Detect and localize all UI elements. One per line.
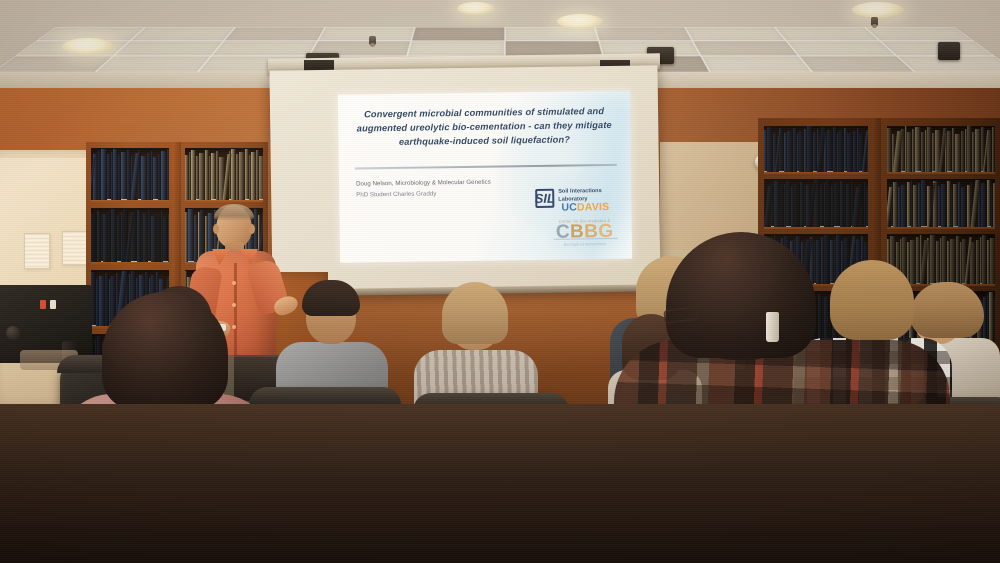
ceiling-tile	[407, 41, 505, 56]
presenter-hair	[214, 204, 254, 221]
recessed-light-icon	[557, 14, 603, 29]
attendee-hair	[442, 282, 508, 344]
ceiling-tile	[799, 56, 915, 72]
journal-volume	[259, 156, 263, 202]
cbbg-tagline-below: Bio-inspired Geotechnics	[545, 242, 625, 247]
lotion-bottle	[766, 312, 779, 342]
av-rack-knob[interactable]	[6, 326, 20, 340]
bookshelf-row	[764, 179, 868, 229]
projected-slide: Convergent microbial communities of stim…	[338, 91, 632, 263]
uc-davis-wordmark: UCDAVIS	[561, 202, 609, 213]
ceiling-tile	[595, 27, 693, 41]
shelf-board	[764, 172, 868, 174]
sprinkler-head-icon	[871, 17, 878, 26]
shelf-board	[185, 200, 263, 202]
davis-text: DAVIS	[577, 201, 609, 213]
ceiling-tile	[318, 27, 416, 41]
av-rack-indicator-led	[40, 300, 46, 309]
shelf-board	[887, 227, 995, 229]
recessed-light-icon	[852, 2, 904, 18]
uc-text: UC	[561, 201, 577, 213]
presenter-ear	[249, 224, 255, 234]
recessed-light-icon	[62, 38, 114, 55]
ceiling-tile	[113, 41, 223, 56]
presenter-ear	[213, 224, 219, 234]
ceiling-tile	[224, 27, 325, 41]
shelf-board	[91, 200, 169, 202]
recessed-light-icon	[457, 2, 495, 15]
slide-title: Convergent microbial communities of stim…	[348, 105, 621, 150]
bookshelf-row	[91, 148, 169, 202]
ceiling-tile	[692, 41, 798, 56]
sil-monogram-icon: SIL	[535, 189, 554, 208]
ceiling-tile	[411, 27, 505, 41]
sprinkler-head-icon	[369, 36, 376, 45]
ceiling-tile	[211, 41, 317, 56]
floor	[0, 404, 1000, 563]
attendee-hair	[102, 292, 228, 410]
presentation-photo: Convergent microbial communities of stim…	[0, 0, 1000, 563]
journal-volume	[993, 183, 995, 229]
ceiling-tile	[786, 41, 896, 56]
ceiling-tile	[775, 27, 880, 41]
ceiling-tile	[685, 27, 786, 41]
bookshelf-row	[887, 179, 995, 229]
ceiling-tile	[865, 27, 974, 41]
bookshelf-row	[764, 126, 868, 174]
ceiling-tile	[505, 27, 599, 41]
ceiling-speaker-icon	[938, 42, 960, 60]
ceiling-tile	[130, 27, 235, 41]
shelf-board	[887, 172, 995, 174]
slide-byline: Doug Nelson, Microbiology & Molecular Ge…	[356, 176, 546, 201]
journal-volume	[167, 149, 169, 202]
ceiling-tile	[95, 56, 211, 72]
journal-volume	[992, 127, 995, 174]
attendee-hair	[302, 280, 360, 316]
sil-uc-davis-logo: SIL Soil Interactions Laboratory UCDAVIS	[535, 187, 623, 218]
ceiling-tile	[701, 56, 813, 72]
journal-volume	[866, 187, 868, 229]
bookshelf-row	[185, 148, 263, 202]
shelf-board	[764, 227, 868, 229]
attendee-hair	[666, 232, 816, 358]
bookshelf-row	[887, 126, 995, 174]
